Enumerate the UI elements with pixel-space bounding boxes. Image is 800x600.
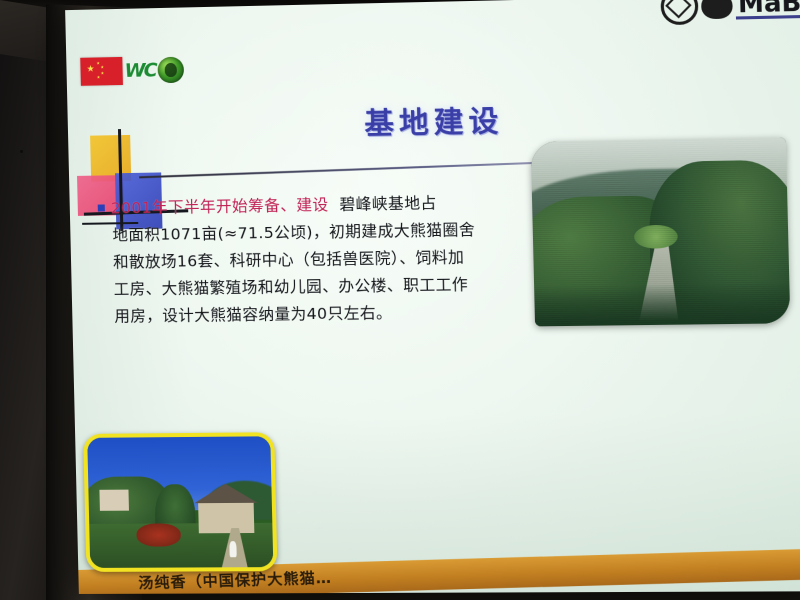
bullet-square-icon [98,204,105,211]
photo-house [198,502,254,534]
flag-star-small: ★ [97,75,101,79]
body-line-1-dark: 碧峰峡基地占 [339,194,437,214]
flag-star-small: ★ [100,65,104,69]
china-flag-icon: ★ ★ ★ ★ ★ [80,57,123,86]
photo-grain-overlay [531,137,791,326]
body-line-1-red: 2001年下半年开始筹备、建设 [111,196,329,218]
slide-emblem: ★ ★ ★ ★ ★ WC [80,56,184,86]
forest-road-photo [531,137,791,326]
mab-logo-text: MaB [736,0,800,19]
body-line-5: 用房，设计大熊猫容纳量为40只左右。 [100,299,475,331]
panda-head-icon [701,0,733,19]
panda-globe-icon [157,57,184,84]
photo-red-shrub [137,523,181,547]
dust-speck [20,150,23,153]
slide-body-text: 2001年下半年开始筹备、建设 碧峰峡基地占 地面积1071亩(≈71.5公顷)… [97,189,475,330]
garden-buildings-photo [83,432,277,572]
flag-star-small: ★ [101,71,105,75]
mab-logo-group: MaB [661,0,800,25]
body-line-4: 工房、大熊猫繁殖场和幼儿园、办公楼、职工工作 [99,271,474,303]
organization-logo-text: WC [124,59,156,82]
projection-screen: ★ ★ ★ ★ ★ WC MaB [65,0,800,594]
presentation-slide: ★ ★ ★ ★ ★ WC MaB [65,0,800,594]
photo-building-far [99,490,129,511]
unesco-ring-icon [661,0,699,25]
flag-star-large: ★ [86,65,94,74]
projector-room-scene: ★ ★ ★ ★ ★ WC MaB [0,0,800,600]
photo-person [229,541,236,557]
